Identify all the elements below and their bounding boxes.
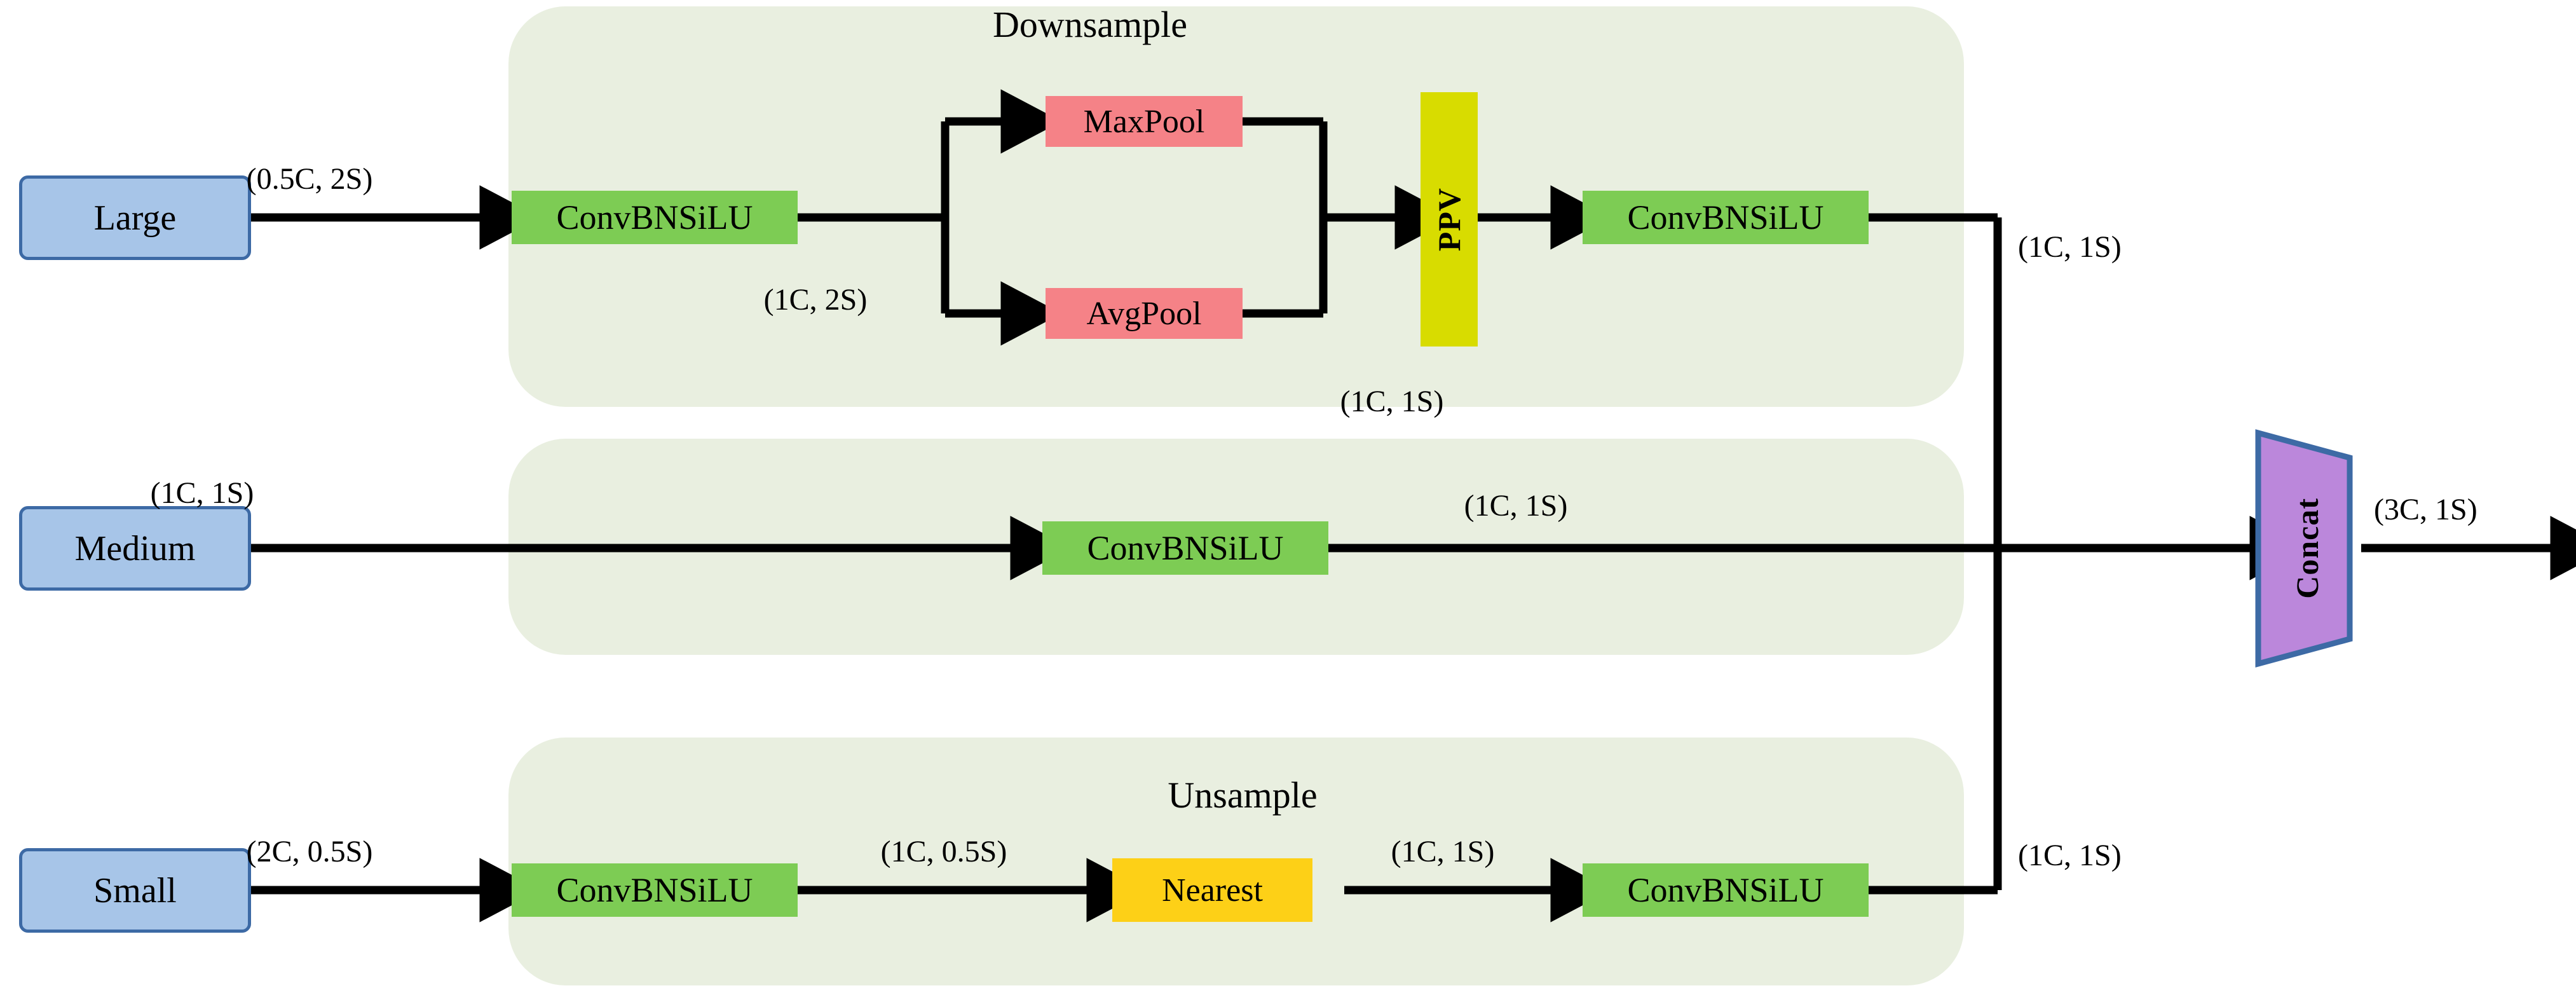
edge-label-bottom-after-conv: (1C, 0.5S) xyxy=(881,837,1007,867)
avgpool-box[interactable]: AvgPool xyxy=(1046,288,1243,339)
input-large-label: Large xyxy=(94,198,177,238)
ppv-label: PPV xyxy=(1431,188,1468,251)
edge-label-after-nearest: (1C, 1S) xyxy=(1391,837,1495,867)
connector-layer xyxy=(0,0,2576,995)
top-conv-out[interactable]: ConvBNSiLU xyxy=(1583,191,1869,244)
edge-label-top-output: (1C, 1S) xyxy=(2018,232,2122,263)
edge-label-middle-after-conv: (1C, 1S) xyxy=(1464,491,1568,521)
nearest-label: Nearest xyxy=(1162,872,1263,909)
middle-conv-label: ConvBNSiLU xyxy=(1087,528,1283,568)
bottom-conv-in[interactable]: ConvBNSiLU xyxy=(512,863,798,917)
edge-label-concat-output: (3C, 1S) xyxy=(2374,495,2477,525)
edge-label-bottom-output: (1C, 1S) xyxy=(2018,841,2122,871)
concat-node[interactable]: Concat xyxy=(2253,429,2361,668)
edge-label-top-after-conv: (1C, 2S) xyxy=(764,285,868,315)
edge-label-medium-input: (1C, 1S) xyxy=(151,478,254,509)
nearest-box[interactable]: Nearest xyxy=(1112,858,1312,922)
edge-label-small-input: (2C, 0.5S) xyxy=(247,837,373,867)
downsample-group-title: Downsample xyxy=(993,6,1187,43)
top-conv-in-label: ConvBNSiLU xyxy=(556,198,753,237)
avgpool-label: AvgPool xyxy=(1086,295,1201,333)
top-conv-in[interactable]: ConvBNSiLU xyxy=(512,191,798,244)
edge-label-after-ppv: (1C, 1S) xyxy=(1340,387,1444,417)
diagram-canvas: Large Downsample (0.5C, 2S) ConvBNSiLU (… xyxy=(0,0,2576,995)
bottom-conv-out[interactable]: ConvBNSiLU xyxy=(1583,863,1869,917)
input-small[interactable]: Small xyxy=(19,848,251,933)
top-conv-out-label: ConvBNSiLU xyxy=(1627,198,1823,237)
middle-conv[interactable]: ConvBNSiLU xyxy=(1042,521,1328,575)
input-small-label: Small xyxy=(93,870,177,911)
bottom-conv-out-label: ConvBNSiLU xyxy=(1627,870,1823,910)
maxpool-box[interactable]: MaxPool xyxy=(1046,96,1243,147)
input-medium-label: Medium xyxy=(75,528,196,569)
ppv-box[interactable]: PPV xyxy=(1421,92,1478,347)
input-medium[interactable]: Medium xyxy=(19,506,251,591)
input-large[interactable]: Large xyxy=(19,175,251,260)
edge-label-large-input: (0.5C, 2S) xyxy=(247,164,373,195)
unsample-group-title: Unsample xyxy=(1168,777,1317,814)
maxpool-label: MaxPool xyxy=(1084,103,1205,141)
bottom-conv-in-label: ConvBNSiLU xyxy=(556,870,753,910)
